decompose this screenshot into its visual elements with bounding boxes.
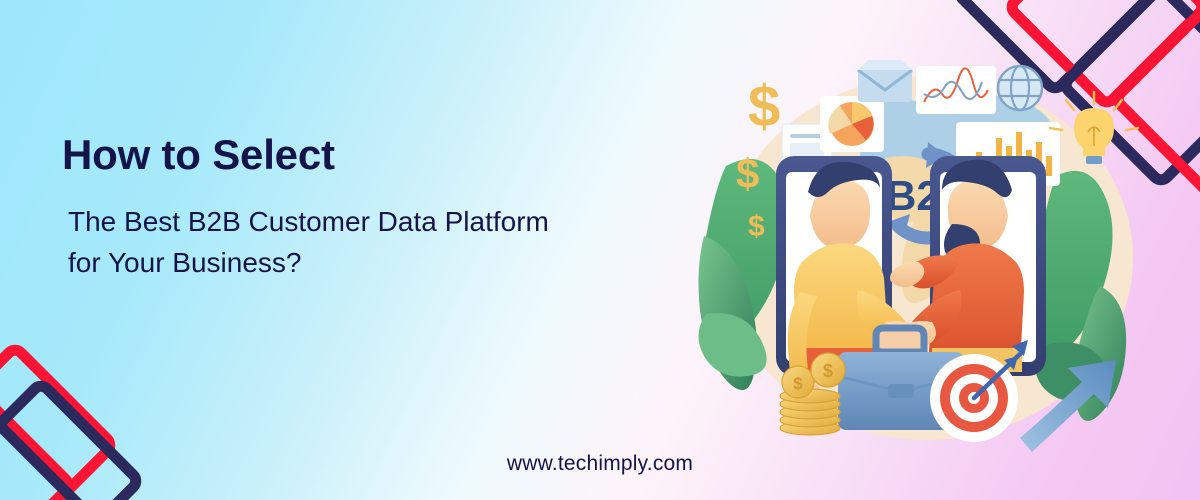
banner-copy: How to Select The Best B2B Customer Data…: [62, 134, 722, 283]
banner-subtitle-line-1: The Best B2B Customer Data Platform: [62, 202, 722, 243]
pie-chart-card: [820, 96, 884, 152]
dollar-sign-small: $: [748, 210, 765, 243]
dollar-sign-large: $: [748, 74, 780, 139]
svg-text:$: $: [748, 210, 765, 243]
diamond-outline-red: [0, 379, 79, 500]
globe-icon: [998, 66, 1042, 110]
banner-headline: How to Select: [62, 134, 722, 176]
line-chart-card: [916, 66, 996, 114]
svg-text:$: $: [793, 374, 803, 393]
b2b-handshake-illustration: $ $ $: [690, 46, 1160, 466]
svg-text:$: $: [748, 74, 780, 139]
envelope-icon: [858, 60, 912, 102]
promo-banner: How to Select The Best B2B Customer Data…: [0, 0, 1200, 500]
dollar-sign-medium: $: [736, 150, 759, 197]
diamond-outline-navy: [0, 375, 147, 500]
svg-text:$: $: [736, 150, 759, 197]
svg-text:$: $: [823, 361, 833, 381]
bottom-left-diamond-decoration: [0, 344, 164, 500]
banner-subtitle-line-2: for Your Business?: [62, 243, 722, 284]
